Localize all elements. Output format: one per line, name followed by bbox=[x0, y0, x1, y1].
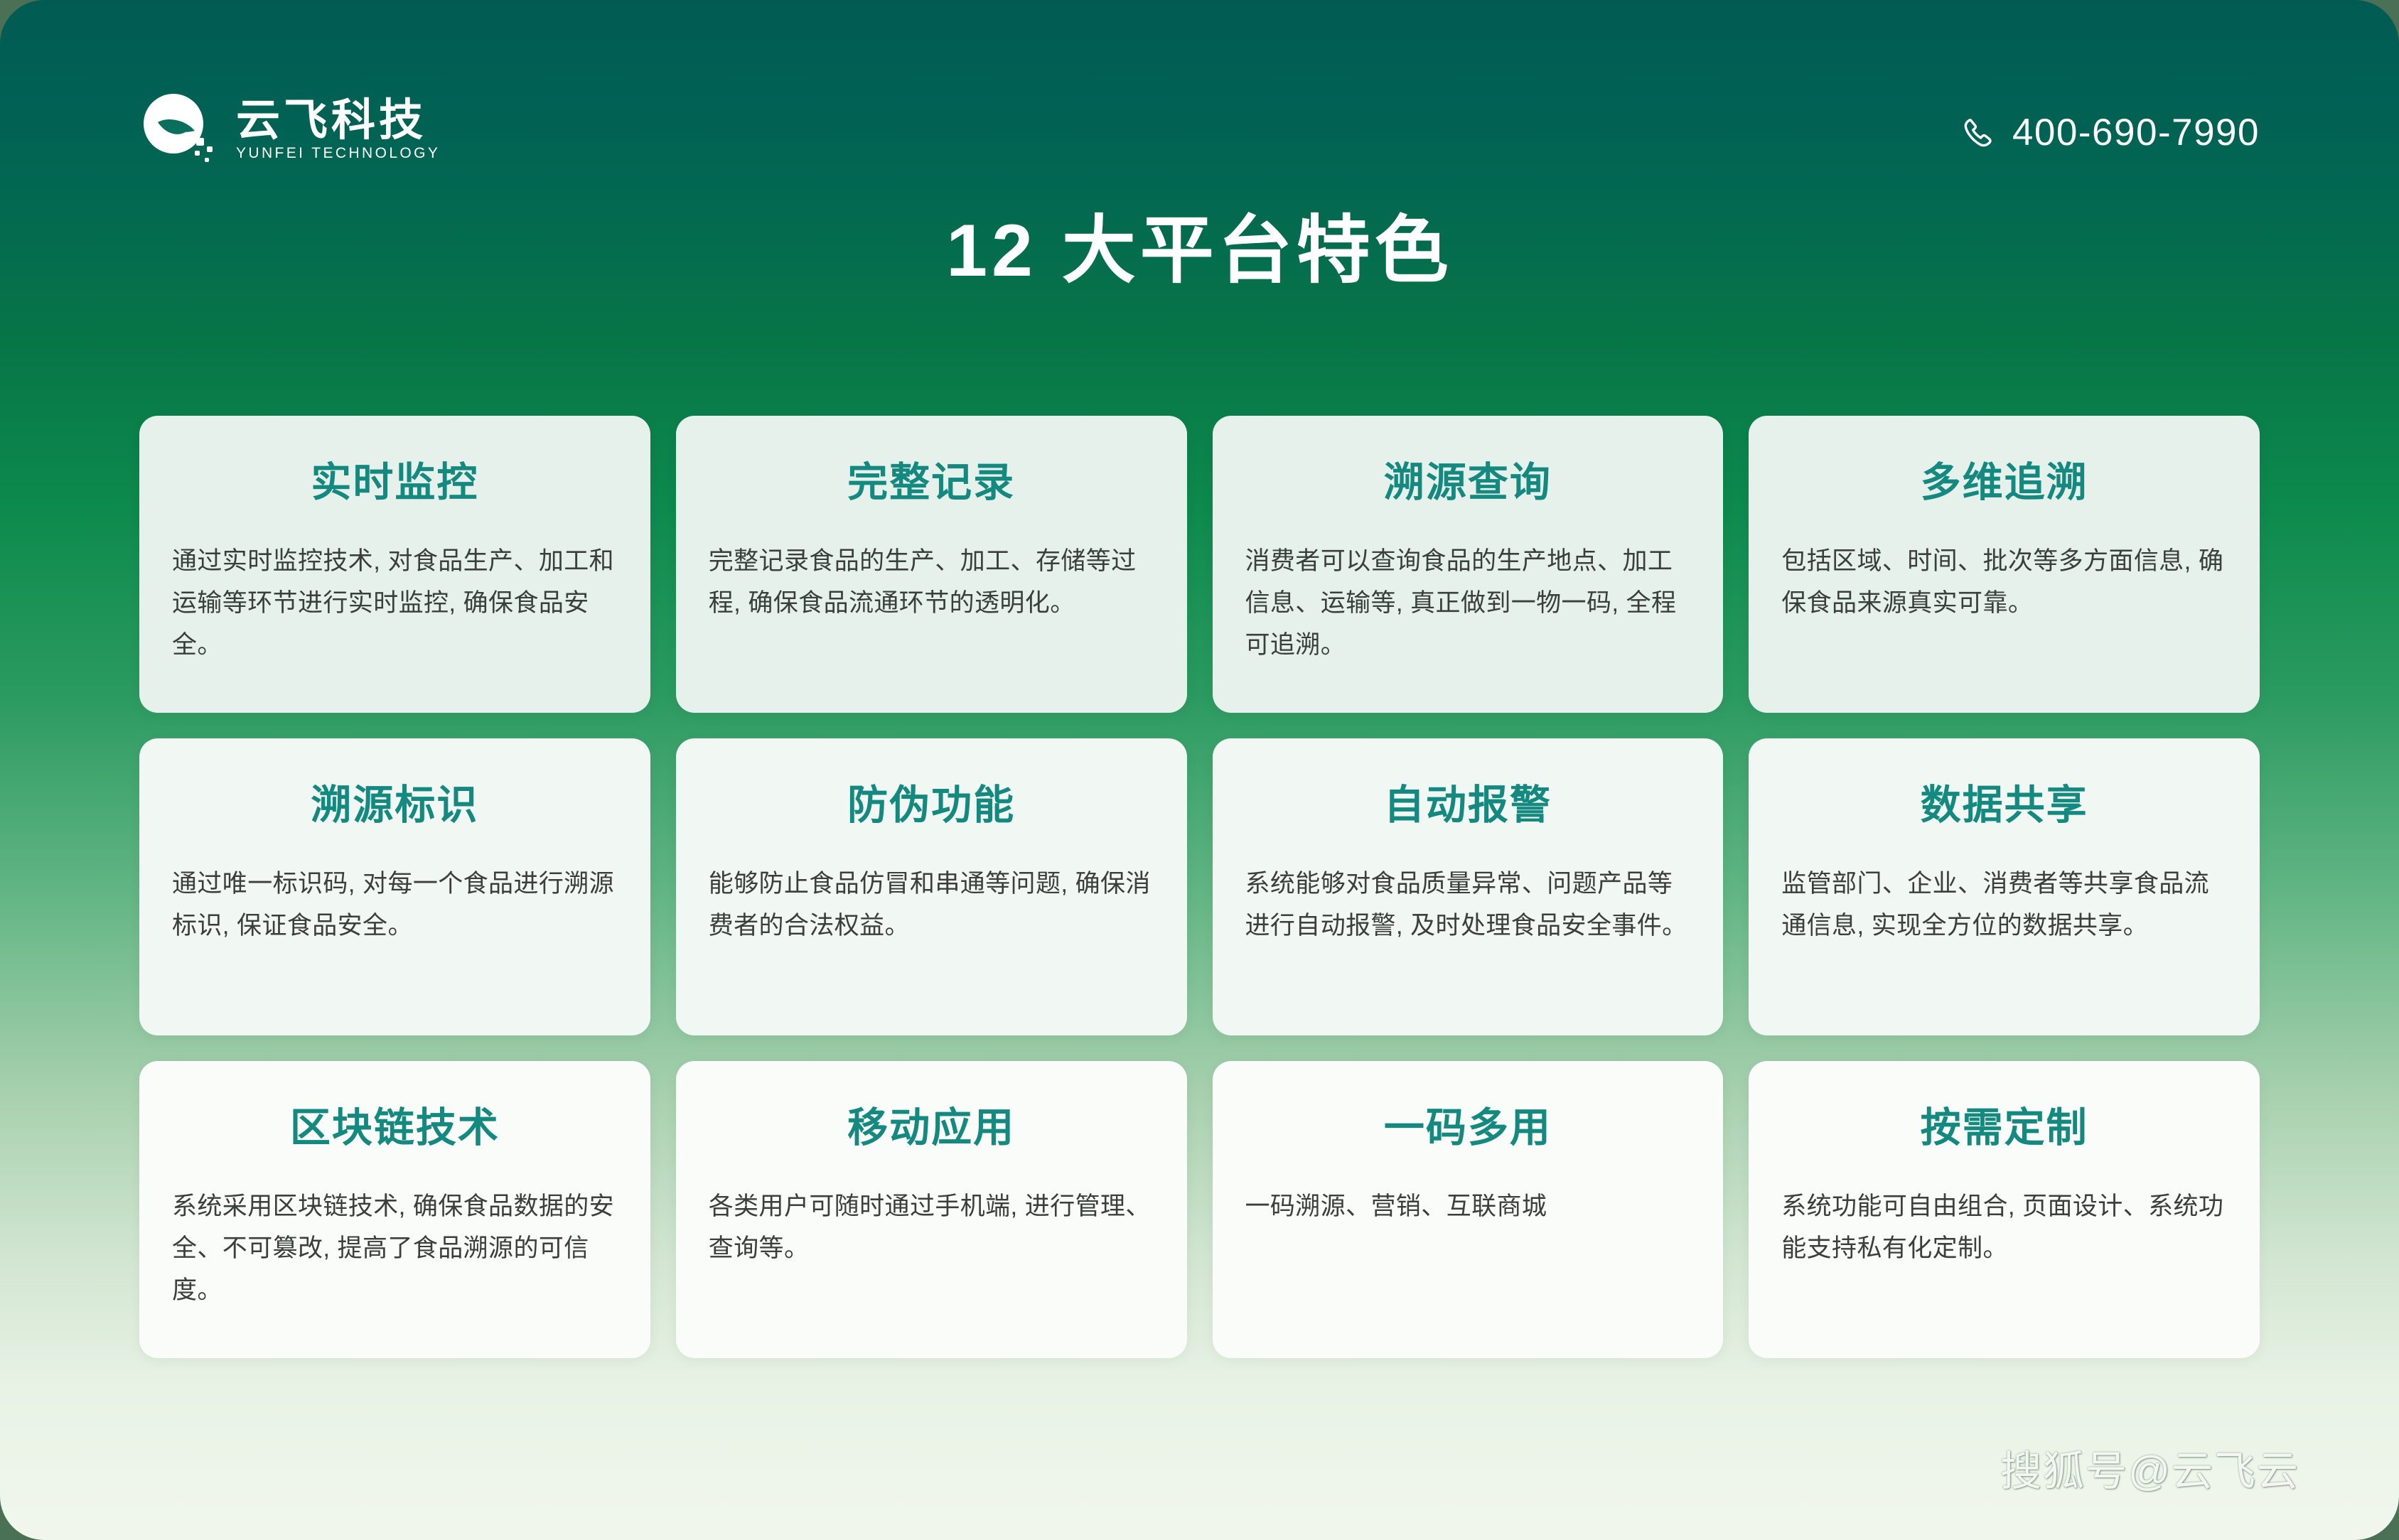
feature-card[interactable]: 溯源标识 通过唯一标识码, 对每一个食品进行溯源标识, 保证食品安全。 bbox=[139, 738, 650, 1035]
feature-card-description: 系统采用区块链技术, 确保食品数据的安全、不可篡改, 提高了食品溯源的可信度。 bbox=[172, 1186, 618, 1311]
feature-card[interactable]: 完整记录 完整记录食品的生产、加工、存储等过程, 确保食品流通环节的透明化。 bbox=[676, 416, 1187, 713]
feature-card-title: 自动报警 bbox=[1245, 781, 1691, 829]
phone-number: 400-690-7990 bbox=[2012, 114, 2260, 151]
feature-card[interactable]: 溯源查询 消费者可以查询食品的生产地点、加工信息、运输等, 真正做到一物一码, … bbox=[1213, 416, 1724, 713]
watermark: 搜狐号@云飞云 bbox=[2000, 1438, 2299, 1497]
feature-card-description: 各类用户可随时通过手机端, 进行管理、查询等。 bbox=[709, 1186, 1154, 1270]
feature-card-grid: 实时监控 通过实时监控技术, 对食品生产、加工和运输等环节进行实时监控, 确保食… bbox=[139, 416, 2260, 1358]
feature-card[interactable]: 区块链技术 系统采用区块链技术, 确保食品数据的安全、不可篡改, 提高了食品溯源… bbox=[139, 1061, 650, 1358]
phone-icon bbox=[1961, 116, 1995, 150]
feature-card-title: 防伪功能 bbox=[709, 781, 1154, 829]
page-title: 12 大平台特色 bbox=[0, 205, 2399, 297]
feature-card-title: 移动应用 bbox=[709, 1104, 1154, 1152]
logo-chinese-name: 云飞科技 bbox=[236, 99, 440, 143]
feature-card[interactable]: 一码多用 一码溯源、营销、互联商城 bbox=[1213, 1061, 1724, 1358]
feature-card[interactable]: 移动应用 各类用户可随时通过手机端, 进行管理、查询等。 bbox=[676, 1061, 1187, 1358]
poster-page: 云飞科技 YUNFEI TECHNOLOGY 400-690-7990 12 大… bbox=[0, 0, 2399, 1540]
feature-card-title: 多维追溯 bbox=[1781, 458, 2227, 507]
feature-card-description: 包括区域、时间、批次等多方面信息, 确保食品来源真实可靠。 bbox=[1781, 541, 2227, 625]
feature-card-description: 消费者可以查询食品的生产地点、加工信息、运输等, 真正做到一物一码, 全程可追溯… bbox=[1245, 541, 1691, 666]
feature-card[interactable]: 实时监控 通过实时监控技术, 对食品生产、加工和运输等环节进行实时监控, 确保食… bbox=[139, 416, 650, 713]
feature-card-title: 溯源查询 bbox=[1245, 458, 1691, 507]
feature-card[interactable]: 自动报警 系统能够对食品质量异常、问题产品等进行自动报警, 及时处理食品安全事件… bbox=[1213, 738, 1724, 1035]
feature-card-title: 数据共享 bbox=[1781, 781, 2227, 829]
feature-card-title: 完整记录 bbox=[709, 458, 1154, 507]
contact-phone[interactable]: 400-690-7990 bbox=[1961, 114, 2260, 151]
logo-english-name: YUNFEI TECHNOLOGY bbox=[236, 146, 440, 161]
feature-card[interactable]: 多维追溯 包括区域、时间、批次等多方面信息, 确保食品来源真实可靠。 bbox=[1749, 416, 2260, 713]
feature-card-title: 溯源标识 bbox=[172, 781, 618, 829]
leaf-circle-logo-icon bbox=[139, 91, 216, 168]
feature-card-description: 监管部门、企业、消费者等共享食品流通信息, 实现全方位的数据共享。 bbox=[1781, 863, 2227, 947]
feature-card-title: 区块链技术 bbox=[172, 1104, 618, 1152]
feature-card-description: 系统功能可自由组合, 页面设计、系统功能支持私有化定制。 bbox=[1781, 1186, 2227, 1270]
feature-card-description: 通过唯一标识码, 对每一个食品进行溯源标识, 保证食品安全。 bbox=[172, 863, 618, 947]
feature-card-description: 通过实时监控技术, 对食品生产、加工和运输等环节进行实时监控, 确保食品安全。 bbox=[172, 541, 618, 666]
feature-card-title: 实时监控 bbox=[172, 458, 618, 507]
feature-card-description: 系统能够对食品质量异常、问题产品等进行自动报警, 及时处理食品安全事件。 bbox=[1245, 863, 1691, 947]
feature-card-description: 能够防止食品仿冒和串通等问题, 确保消费者的合法权益。 bbox=[709, 863, 1154, 947]
feature-card[interactable]: 防伪功能 能够防止食品仿冒和串通等问题, 确保消费者的合法权益。 bbox=[676, 738, 1187, 1035]
feature-card-title: 一码多用 bbox=[1245, 1104, 1691, 1152]
feature-card[interactable]: 按需定制 系统功能可自由组合, 页面设计、系统功能支持私有化定制。 bbox=[1749, 1061, 2260, 1358]
feature-card-description: 一码溯源、营销、互联商城 bbox=[1245, 1186, 1691, 1228]
header: 云飞科技 YUNFEI TECHNOLOGY 400-690-7990 12 大… bbox=[0, 0, 2399, 213]
brand-logo[interactable]: 云飞科技 YUNFEI TECHNOLOGY bbox=[139, 91, 440, 168]
feature-card-title: 按需定制 bbox=[1781, 1104, 2227, 1152]
feature-card[interactable]: 数据共享 监管部门、企业、消费者等共享食品流通信息, 实现全方位的数据共享。 bbox=[1749, 738, 2260, 1035]
feature-card-description: 完整记录食品的生产、加工、存储等过程, 确保食品流通环节的透明化。 bbox=[709, 541, 1154, 625]
